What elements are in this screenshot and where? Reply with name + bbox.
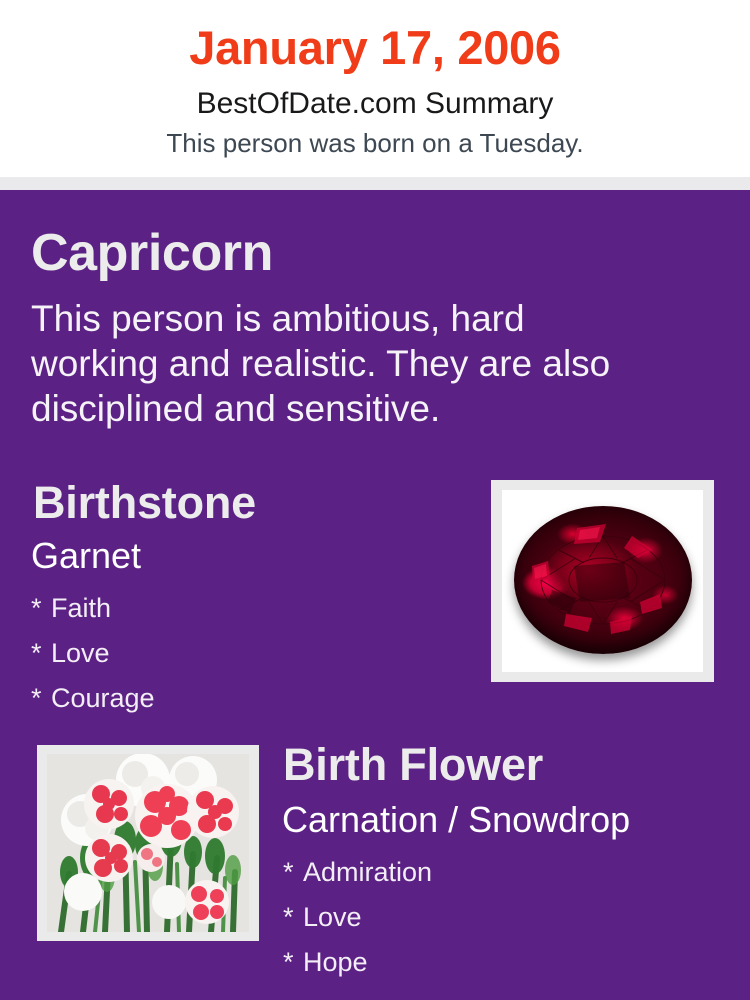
bullet-star-icon: * — [31, 676, 51, 721]
birthflower-name: Carnation / Snowdrop — [282, 798, 630, 842]
summary-page: January 17, 2006 BestOfDate.com Summary … — [0, 0, 750, 1000]
bullet-star-icon: * — [31, 586, 51, 631]
birthstone-trait-label: Courage — [51, 683, 155, 713]
birthflower-image-frame — [37, 745, 259, 941]
weekday-note: This person was born on a Tuesday. — [0, 126, 750, 160]
birthstone-trait-list: *Faith *Love *Courage — [31, 586, 155, 721]
zodiac-description: This person is ambitious, hard working a… — [31, 296, 656, 431]
bullet-star-icon: * — [283, 895, 303, 940]
birthstone-image — [502, 490, 703, 672]
birthstone-image-frame — [491, 480, 714, 682]
list-item: *Love — [31, 631, 155, 676]
list-item: *Love — [283, 895, 432, 940]
list-item: *Faith — [31, 586, 155, 631]
birthflower-heading: Birth Flower — [283, 738, 543, 792]
birthflower-trait-label: Love — [303, 902, 362, 932]
site-summary-label: BestOfDate.com Summary — [0, 85, 750, 123]
birthstone-trait-label: Faith — [51, 593, 111, 623]
birthflower-trait-label: Hope — [303, 947, 368, 977]
list-item: *Admiration — [283, 850, 432, 895]
birthstone-trait-label: Love — [51, 638, 110, 668]
garnet-gem-icon — [514, 506, 692, 654]
gem-facets-overlay — [514, 506, 692, 654]
list-item: *Courage — [31, 676, 155, 721]
zodiac-sign-heading: Capricorn — [31, 222, 273, 284]
carnation-bouquet-icon — [47, 754, 249, 932]
list-item: *Hope — [283, 940, 432, 985]
birthflower-trait-list: *Admiration *Love *Hope — [283, 850, 432, 985]
header-divider — [0, 177, 750, 190]
bullet-star-icon: * — [283, 940, 303, 985]
birthstone-name: Garnet — [31, 534, 141, 578]
bullet-star-icon: * — [283, 850, 303, 895]
bullet-star-icon: * — [31, 631, 51, 676]
page-title-date: January 17, 2006 — [0, 19, 750, 77]
birthflower-trait-label: Admiration — [303, 857, 432, 887]
page-header: January 17, 2006 BestOfDate.com Summary … — [0, 0, 750, 177]
birthstone-heading: Birthstone — [33, 477, 256, 529]
birthflower-image — [47, 754, 249, 932]
